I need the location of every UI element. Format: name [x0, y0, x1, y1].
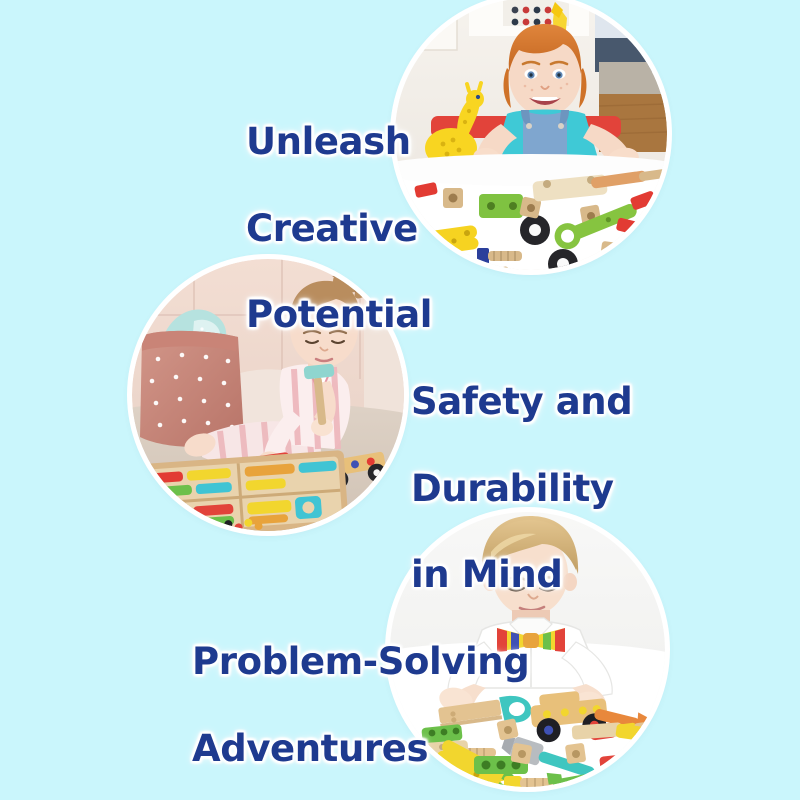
headline-safety-line-3: in Mind: [411, 553, 632, 596]
headline-creative-line-2: Creative: [246, 207, 432, 250]
headline-problem-line-2: Adventures: [192, 727, 529, 770]
headline-problem: Problem-Solving Adventures Await: [192, 597, 529, 800]
headline-creative: Unleash Creative Potential: [246, 77, 432, 380]
girl-with-wooden-tools-photo: [395, 0, 667, 270]
photo-circle-creative: [395, 0, 667, 270]
headline-creative-line-1: Unleash: [246, 120, 432, 163]
headline-safety-line-2: Durability: [411, 467, 632, 510]
headline-safety: Safety and Durability in Mind: [411, 337, 632, 640]
promotional-poster: Unleash Creative Potential Safety and Du…: [0, 0, 800, 800]
headline-problem-line-1: Problem-Solving: [192, 640, 529, 683]
headline-safety-line-1: Safety and: [411, 380, 632, 423]
headline-creative-line-3: Potential: [246, 293, 432, 336]
